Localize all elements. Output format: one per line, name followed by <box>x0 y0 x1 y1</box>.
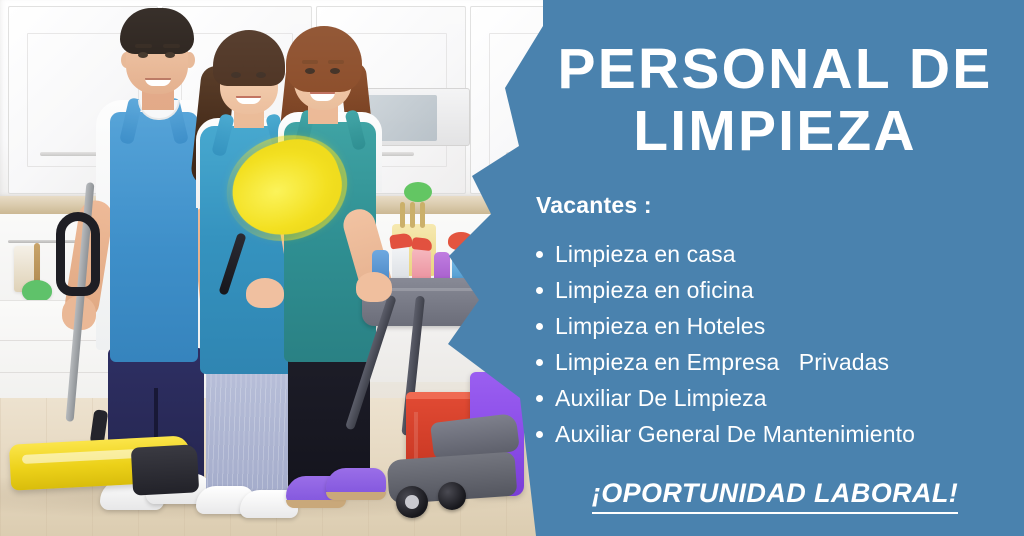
list-item-label: Auxiliar General De Mantenimiento <box>555 421 915 447</box>
title-line-1: PERSONAL DE <box>548 38 1002 100</box>
vacantes-label: Vacantes : <box>536 192 652 219</box>
bullet-icon <box>536 323 543 330</box>
poster-content: PERSONAL DE LIMPIEZA Vacantes : Limpieza… <box>0 0 1024 536</box>
bullet-icon <box>536 431 543 438</box>
vacancy-list: Limpieza en casa Limpieza en oficina Lim… <box>534 236 1006 452</box>
call-to-action: ¡OPORTUNIDAD LABORAL! <box>548 478 1002 509</box>
list-item: Limpieza en oficina <box>534 272 1006 308</box>
list-item-label: Limpieza en oficina <box>555 277 754 303</box>
list-item-label: Limpieza en Hoteles <box>555 313 765 339</box>
list-item: Auxiliar General De Mantenimiento <box>534 416 1006 452</box>
list-item: Limpieza en casa <box>534 236 1006 272</box>
title-line-2: LIMPIEZA <box>548 100 1002 162</box>
list-item: Auxiliar De Limpieza <box>534 380 1006 416</box>
list-item: Limpieza en Hoteles <box>534 308 1006 344</box>
call-to-action-text: ¡OPORTUNIDAD LABORAL! <box>592 478 958 514</box>
list-item-label: Limpieza en casa <box>555 241 736 267</box>
bullet-icon <box>536 287 543 294</box>
bullet-icon <box>536 251 543 258</box>
page-title: PERSONAL DE LIMPIEZA <box>548 38 1002 162</box>
list-item-label: Limpieza en Empresa Privadas <box>555 349 889 375</box>
list-item-label: Auxiliar De Limpieza <box>555 385 767 411</box>
job-ad-poster: PERSONAL DE LIMPIEZA Vacantes : Limpieza… <box>0 0 1024 536</box>
list-item: Limpieza en Empresa Privadas <box>534 344 1006 380</box>
bullet-icon <box>536 395 543 402</box>
bullet-icon <box>536 359 543 366</box>
